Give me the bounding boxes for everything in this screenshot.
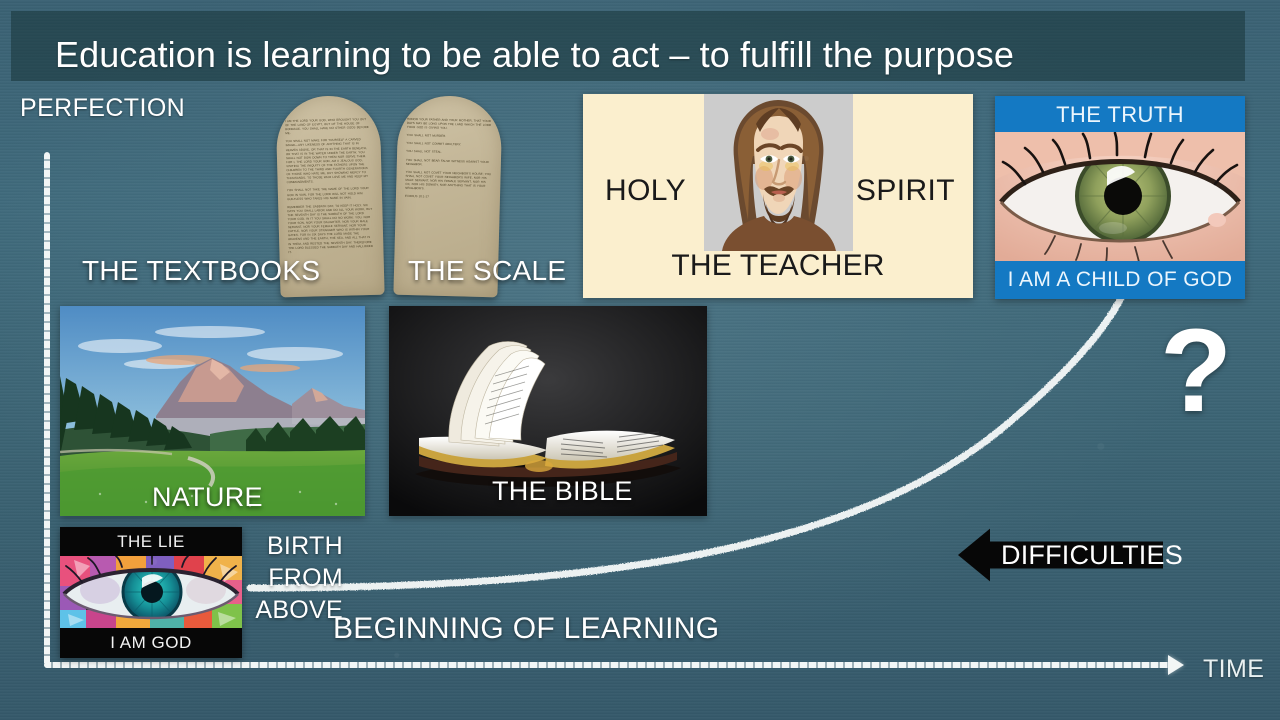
teacher-panel: HOLY SPIRIT: [583, 94, 973, 298]
word-holy: HOLY: [605, 174, 686, 208]
question-mark: ?: [1160, 312, 1232, 430]
colorful-eye-photo: [60, 556, 242, 629]
green-eye-photo: [995, 132, 1245, 263]
caption-textbooks: THE TEXTBOOKS: [82, 255, 320, 287]
truth-label-bottom: I AM A CHILD OF GOD: [995, 261, 1245, 299]
birth-line-3: ABOVE: [253, 594, 343, 626]
difficulties-arrow: DIFFICULTIES: [958, 527, 1163, 583]
x-axis-line: [44, 662, 1178, 668]
truth-label-top: THE TRUTH: [995, 96, 1245, 134]
title-bar: Education is learning to be able to act …: [11, 11, 1245, 81]
lie-panel: THE LIE: [60, 527, 242, 658]
slide-canvas: Education is learning to be able to act …: [0, 0, 1280, 720]
x-axis-label: TIME: [1203, 655, 1264, 684]
birth-line-1: BIRTH: [253, 530, 343, 562]
birth-from-above-label: BIRTH FROM ABOVE: [253, 530, 343, 626]
jesus-portrait: [704, 94, 853, 251]
caption-teacher: THE TEACHER: [583, 249, 973, 283]
birth-line-2: FROM: [253, 562, 343, 594]
caption-scale: THE SCALE: [408, 255, 566, 287]
truth-panel: THE TRUTH: [995, 96, 1245, 299]
lie-label-top: THE LIE: [60, 527, 242, 557]
page-title: Education is learning to be able to act …: [55, 33, 1235, 77]
lie-label-bottom: I AM GOD: [60, 628, 242, 658]
caption-nature: NATURE: [152, 482, 263, 513]
caption-bible: THE BIBLE: [492, 476, 633, 507]
difficulties-label: DIFFICULTIES: [1001, 540, 1183, 571]
x-axis-arrowhead-icon: [1168, 655, 1184, 675]
beginning-of-learning-label: BEGINNING OF LEARNING: [333, 612, 719, 646]
y-axis-label: PERFECTION: [20, 94, 185, 123]
y-axis-line: [44, 152, 50, 668]
word-spirit: SPIRIT: [856, 174, 955, 208]
